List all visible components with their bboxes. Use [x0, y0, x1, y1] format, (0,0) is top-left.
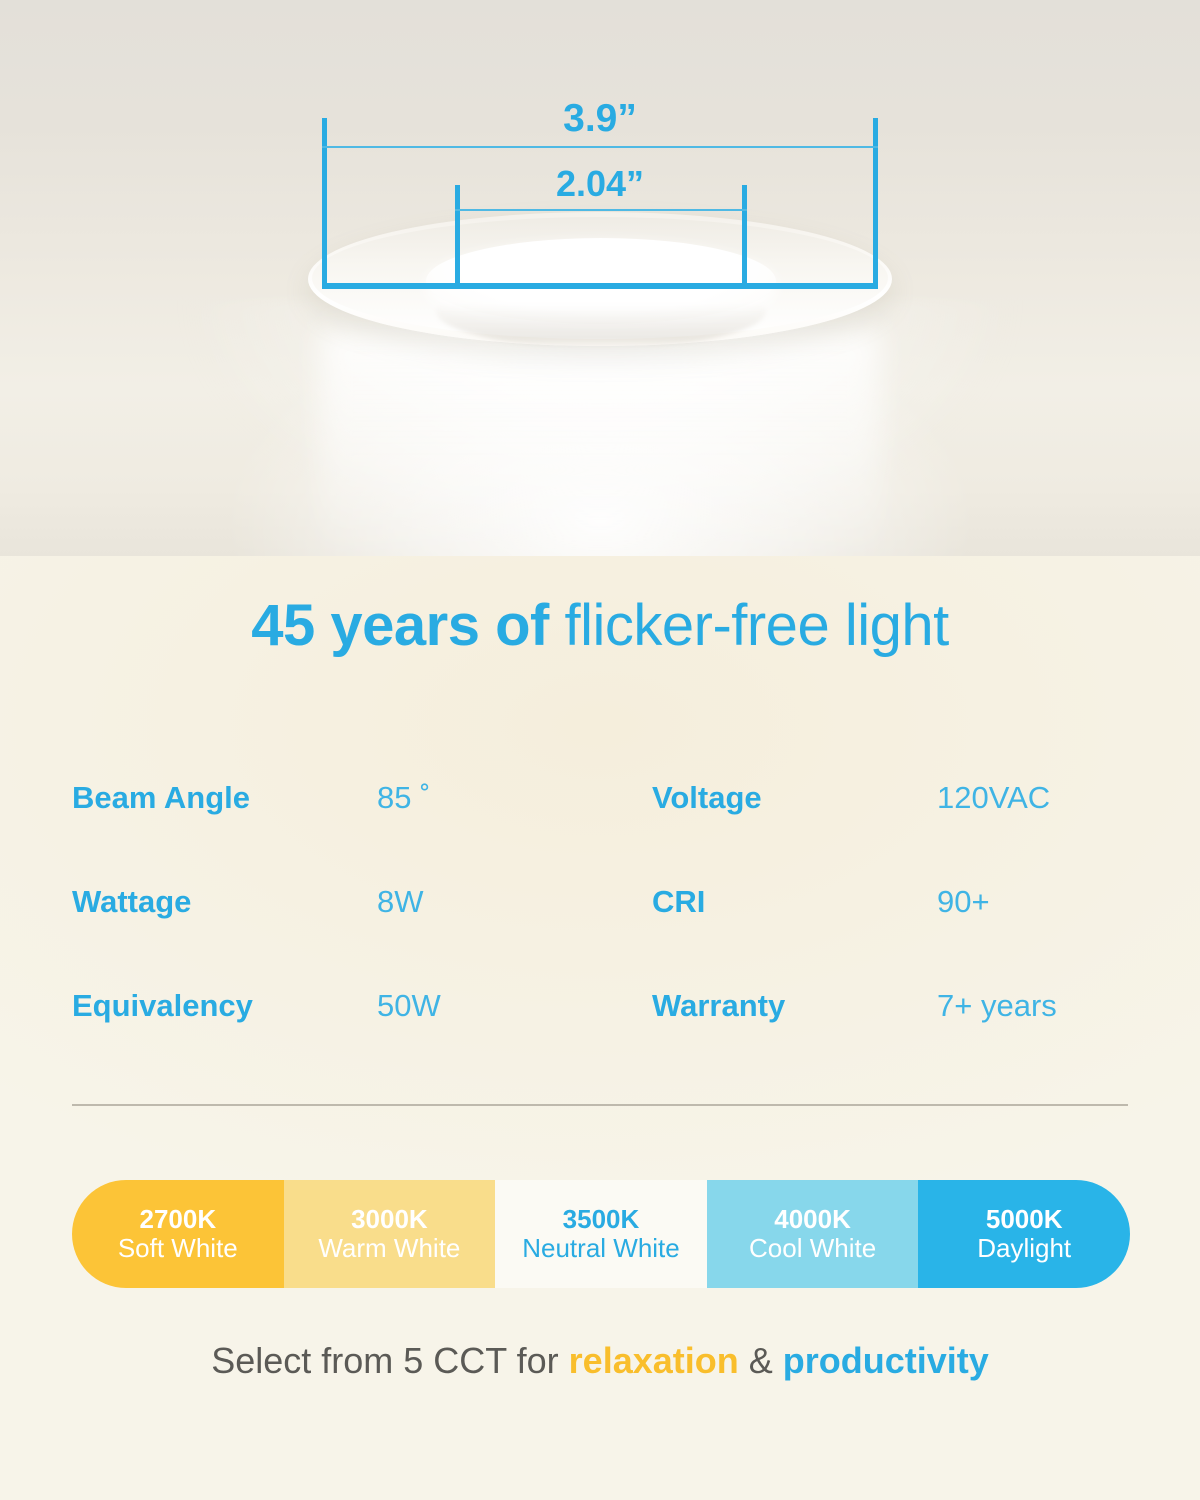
spec-item-beam-angle: Beam Angle 85 ˚: [72, 780, 652, 816]
caption-part-2: &: [739, 1340, 783, 1381]
section-divider: [72, 1104, 1128, 1106]
cct-name: Daylight: [977, 1234, 1071, 1263]
inner-diameter-label: 2.04”: [0, 163, 1200, 205]
cct-segment-4000k[interactable]: 4000K Cool White: [707, 1180, 919, 1288]
cct-kelvin: 3000K: [351, 1205, 428, 1234]
spec-value: 50W: [377, 988, 441, 1024]
cct-segment-3500k[interactable]: 3500K Neutral White: [495, 1180, 707, 1288]
spec-label: Beam Angle: [72, 780, 377, 816]
cct-segment-5000k[interactable]: 5000K Daylight: [918, 1180, 1130, 1288]
cct-name: Warm White: [318, 1234, 460, 1263]
headline-light-text: flicker-free light: [564, 593, 948, 658]
spec-label: CRI: [652, 884, 937, 920]
spec-row: Equivalency 50W Warranty 7+ years: [72, 988, 1132, 1092]
spec-item-warranty: Warranty 7+ years: [652, 988, 1132, 1024]
spec-label: Voltage: [652, 780, 937, 816]
spec-value: 85 ˚: [377, 780, 430, 816]
cct-name: Neutral White: [522, 1234, 680, 1263]
inner-dim-rule: [455, 209, 747, 211]
specifications-panel: 45 years of flicker-free light Beam Angl…: [0, 556, 1200, 1500]
spec-item-wattage: Wattage 8W: [72, 884, 652, 920]
product-photo-panel: 3.9” 2.04”: [0, 0, 1200, 556]
cct-kelvin: 4000K: [774, 1205, 851, 1234]
caption-part-1: Select from 5 CCT for: [211, 1340, 568, 1381]
spec-item-voltage: Voltage 120VAC: [652, 780, 1132, 816]
spec-row: Wattage 8W CRI 90+: [72, 884, 1132, 988]
spec-value: 8W: [377, 884, 424, 920]
headline-bold-text: 45 years of: [251, 593, 549, 658]
cct-kelvin: 3500K: [563, 1205, 640, 1234]
outer-dim-rule: [322, 146, 878, 148]
spec-label: Equivalency: [72, 988, 377, 1024]
dimension-annotations: 3.9” 2.04”: [0, 0, 1200, 556]
spec-value: 120VAC: [937, 780, 1050, 816]
cct-segment-2700k[interactable]: 2700K Soft White: [72, 1180, 284, 1288]
specs-grid: Beam Angle 85 ˚ Voltage 120VAC Wattage 8…: [72, 780, 1132, 1092]
cct-segment-3000k[interactable]: 3000K Warm White: [284, 1180, 496, 1288]
outer-diameter-label: 3.9”: [0, 97, 1200, 141]
spec-row: Beam Angle 85 ˚ Voltage 120VAC: [72, 780, 1132, 884]
headline: 45 years of flicker-free light: [0, 592, 1200, 659]
spec-label: Wattage: [72, 884, 377, 920]
caption-productivity-word: productivity: [783, 1340, 989, 1381]
spec-value: 7+ years: [937, 988, 1057, 1024]
cct-kelvin: 5000K: [986, 1205, 1063, 1234]
outer-dim-baseline: [322, 283, 878, 289]
cct-selector-bar: 2700K Soft White 3000K Warm White 3500K …: [72, 1180, 1130, 1288]
spec-item-cri: CRI 90+: [652, 884, 1132, 920]
cct-kelvin: 2700K: [139, 1205, 216, 1234]
product-infographic: 3.9” 2.04” 45 years of flicker-free ligh…: [0, 0, 1200, 1500]
cct-caption: Select from 5 CCT for relaxation & produ…: [0, 1340, 1200, 1382]
cct-name: Cool White: [749, 1234, 876, 1263]
spec-label: Warranty: [652, 988, 937, 1024]
cct-name: Soft White: [118, 1234, 238, 1263]
caption-relaxation-word: relaxation: [569, 1340, 739, 1381]
spec-value: 90+: [937, 884, 990, 920]
spec-item-equivalency: Equivalency 50W: [72, 988, 652, 1024]
